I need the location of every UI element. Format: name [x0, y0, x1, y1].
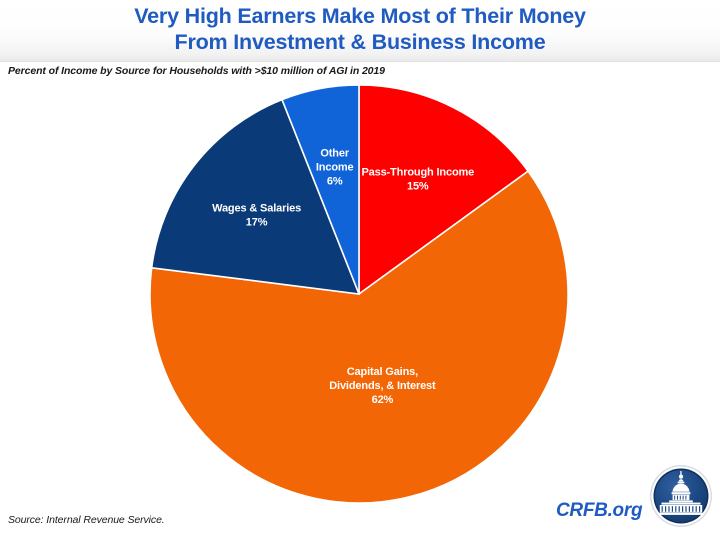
pie-chart-svg: Pass-Through Income15%Capital Gains,Divi… [0, 0, 720, 540]
brand-wordmark[interactable]: CRFB.org [556, 500, 642, 522]
capitol-dome-icon[interactable] [648, 463, 714, 529]
source-note: Source: Internal Revenue Service. [8, 514, 165, 526]
pie-chart: Pass-Through Income15%Capital Gains,Divi… [0, 0, 720, 540]
pie-slice-group [150, 85, 568, 503]
